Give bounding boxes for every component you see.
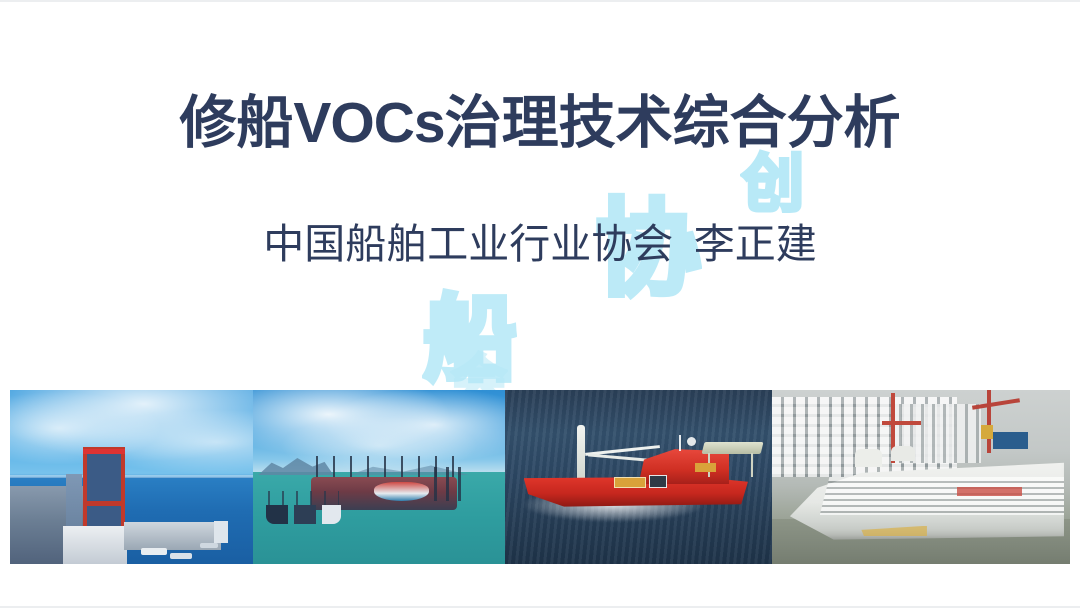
- hull-stripe: [957, 487, 1023, 496]
- ship-funnel: [855, 449, 882, 466]
- yard-crane-yellow: [981, 425, 993, 439]
- horizon-line: [10, 475, 253, 478]
- presentation-slide: 创 协 船 会 修船VOCs治理技术综合分析 中国船舶工业行业协会 李正建: [0, 0, 1080, 608]
- ship-funnel: [891, 446, 915, 462]
- photo-shipyard-harbor: [253, 390, 505, 564]
- antenna: [679, 435, 681, 451]
- photo-coastal-city: [10, 390, 253, 564]
- helideck: [701, 442, 763, 454]
- harbor-cranes: [434, 467, 469, 502]
- cruise-ship-decks: [820, 477, 1064, 515]
- page-title: 修船VOCs治理技术综合分析: [0, 90, 1080, 157]
- tower-podium: [63, 526, 126, 564]
- boat: [200, 543, 218, 548]
- vessel-mast: [577, 425, 585, 484]
- pier-building: [214, 521, 228, 543]
- bridge-window: [695, 463, 716, 472]
- watermark-glyph-1-icon: 创: [742, 154, 802, 216]
- title-suffix: 治理技术综合分析: [445, 92, 901, 155]
- subtitle-author: 中国船舶工业行业协会 李正建: [0, 220, 1080, 269]
- moored-boats: [266, 505, 342, 524]
- photo-strip: [10, 390, 1070, 564]
- gantry-crane-mast: [987, 390, 991, 453]
- yard-crane-blue: [993, 432, 1029, 449]
- gantry-crane-arm: [882, 421, 921, 425]
- title-prefix: 修船: [179, 92, 293, 155]
- subtitle-block: 中国船舶工业行业协会 李正建: [0, 220, 1080, 269]
- photo-cruise-ship-dock: [772, 390, 1070, 564]
- photo-red-supply-vessel: [505, 390, 772, 564]
- boat: [141, 548, 167, 555]
- boat: [170, 553, 192, 559]
- watermark-glyph-3-icon: 船: [424, 294, 514, 386]
- bridge-window: [614, 477, 645, 488]
- bridge-window: [649, 475, 667, 487]
- helideck-support: [751, 453, 753, 477]
- title-block: 修船VOCs治理技术综合分析: [0, 90, 1080, 157]
- radar-dome: [687, 437, 696, 446]
- title-latin: VOCs: [293, 91, 444, 155]
